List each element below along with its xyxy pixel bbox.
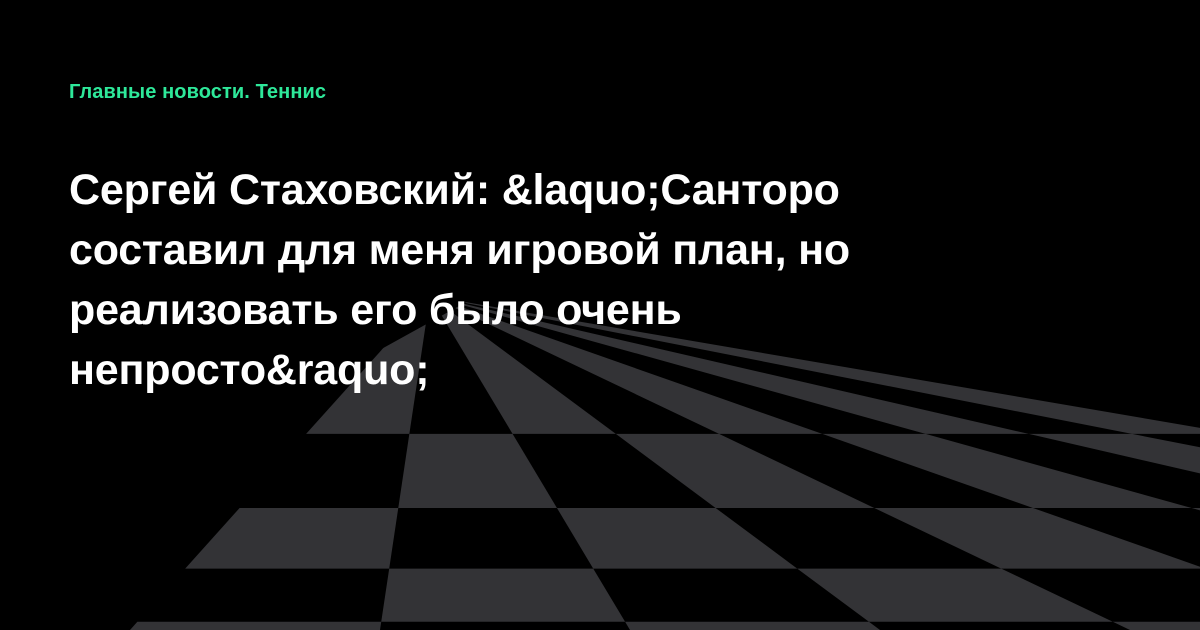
checker-cell — [94, 622, 381, 630]
checker-cell — [874, 508, 1200, 569]
checker-cell — [1192, 508, 1200, 569]
checker-cell — [625, 622, 934, 630]
social-share-card: Главные новости. Теннис Сергей Стаховски… — [0, 0, 1200, 630]
headline-line-1: Сергей Стаховский: &laquo;Санторо — [69, 160, 1029, 220]
checker-cell — [822, 434, 1191, 508]
headline-line-2: составил для меня игровой план, но — [69, 220, 1029, 280]
checker-cell — [1029, 434, 1200, 508]
checker-cell — [1113, 622, 1200, 630]
headline-line-4: непросто&raquo; — [69, 340, 1029, 400]
checker-cell — [616, 434, 874, 508]
page-title: Сергей Стаховский: &laquo;Санторо состав… — [69, 160, 1029, 400]
kicker-label: Главные новости. Теннис — [69, 79, 326, 105]
checker-cell — [557, 508, 797, 569]
headline-line-3: реализовать его было очень — [69, 280, 1029, 340]
checker-cell — [381, 569, 625, 622]
checker-cell — [797, 569, 1113, 622]
checker-cell — [185, 508, 398, 569]
checker-cell — [398, 434, 557, 508]
